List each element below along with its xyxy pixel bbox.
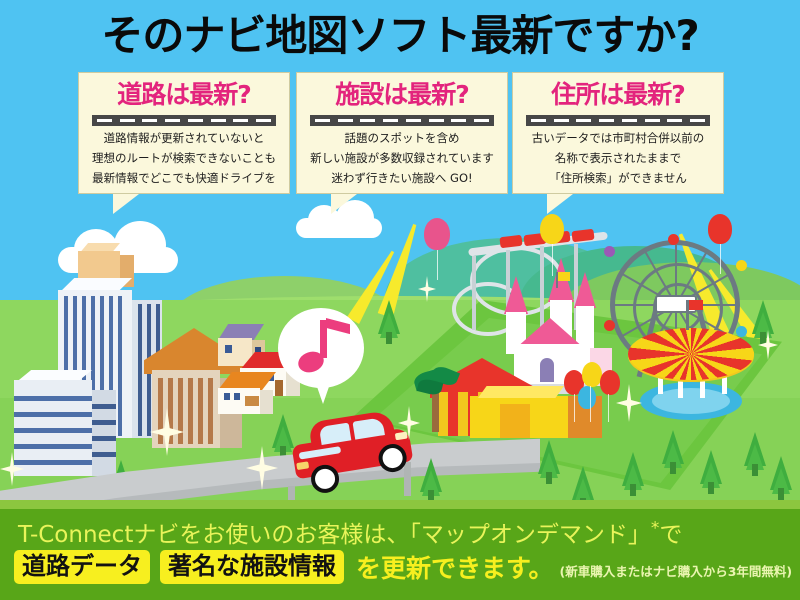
ferris-cabin: [604, 246, 615, 257]
feature-box-title: 施設は最新?: [297, 79, 507, 111]
feature-box-line-3: 最新情報でどこでも快適ドライブを: [79, 171, 289, 186]
feature-box-title: 道路は最新?: [79, 79, 289, 111]
page-title: そのナビ地図ソフト最新ですか?: [0, 8, 800, 64]
road-divider-icon: [310, 115, 494, 126]
road-pillar: [404, 462, 411, 496]
banner-top-strip: [0, 500, 800, 509]
banner-line-2: 道路データ 著名な施設情報 を更新できます。 (新車購入またはナビ購入から3年間…: [14, 549, 792, 585]
ferris-cabin: [736, 326, 747, 337]
banner-footnote: (新車購入またはナビ購入から3年間無料): [560, 561, 793, 585]
ferris-cabin: [736, 260, 747, 271]
banner-line-1-text: T-Connectナビをお使いのお客様は、「マップオンデマンド」: [18, 522, 651, 548]
feature-box-line-1: 道路情報が更新されていないと: [79, 131, 289, 146]
chip-facility-info: 著名な施設情報: [160, 550, 344, 584]
feature-box-line-1: 古いデータでは市町村合併以前の: [513, 131, 723, 146]
banner-line-1: T-Connectナビをお使いのお客様は、「マップオンデマンド」*で: [18, 515, 682, 549]
cloud: [296, 218, 382, 238]
road-divider-icon: [526, 115, 710, 126]
promo-banner: そのナビ地図ソフト最新ですか? 道路は最新? 道路情報が更新されていないと 理想…: [0, 0, 800, 600]
feature-box-title: 住所は最新?: [513, 79, 723, 111]
feature-box-line-2: 名称で表示されたままで: [513, 151, 723, 166]
banner-line-2-tail: を更新できます。: [356, 549, 554, 585]
feature-box-roads: 道路は最新? 道路情報が更新されていないと 理想のルートが検索できないことも 最…: [78, 72, 290, 194]
feature-box-line-2: 新しい施設が多数収録されています: [297, 151, 507, 166]
ferris-cabin: [668, 234, 679, 245]
road-divider-icon: [92, 115, 276, 126]
feature-box-line-1: 話題のスポットを含め: [297, 131, 507, 146]
feature-box-line-3: 「住所検索」ができません: [513, 171, 723, 186]
feature-box-address: 住所は最新? 古いデータでは市町村合併以前の 名称で表示されたままで 「住所検索…: [512, 72, 724, 194]
chip-road-data: 道路データ: [14, 550, 150, 584]
banner-line-1-suffix: で: [659, 522, 682, 548]
feature-box-facilities: 施設は最新? 話題のスポットを含め 新しい施設が多数収録されています 迷わず行き…: [296, 72, 508, 194]
feature-box-line-3: 迷わず行きたい施設へ GO!: [297, 171, 507, 186]
bottom-banner: T-Connectナビをお使いのお客様は、「マップオンデマンド」*で 道路データ…: [0, 509, 800, 600]
ferris-cabin: [604, 320, 615, 331]
feature-box-line-2: 理想のルートが検索できないことも: [79, 151, 289, 166]
feature-boxes: 道路は最新? 道路情報が更新されていないと 理想のルートが検索できないことも 最…: [0, 72, 800, 212]
